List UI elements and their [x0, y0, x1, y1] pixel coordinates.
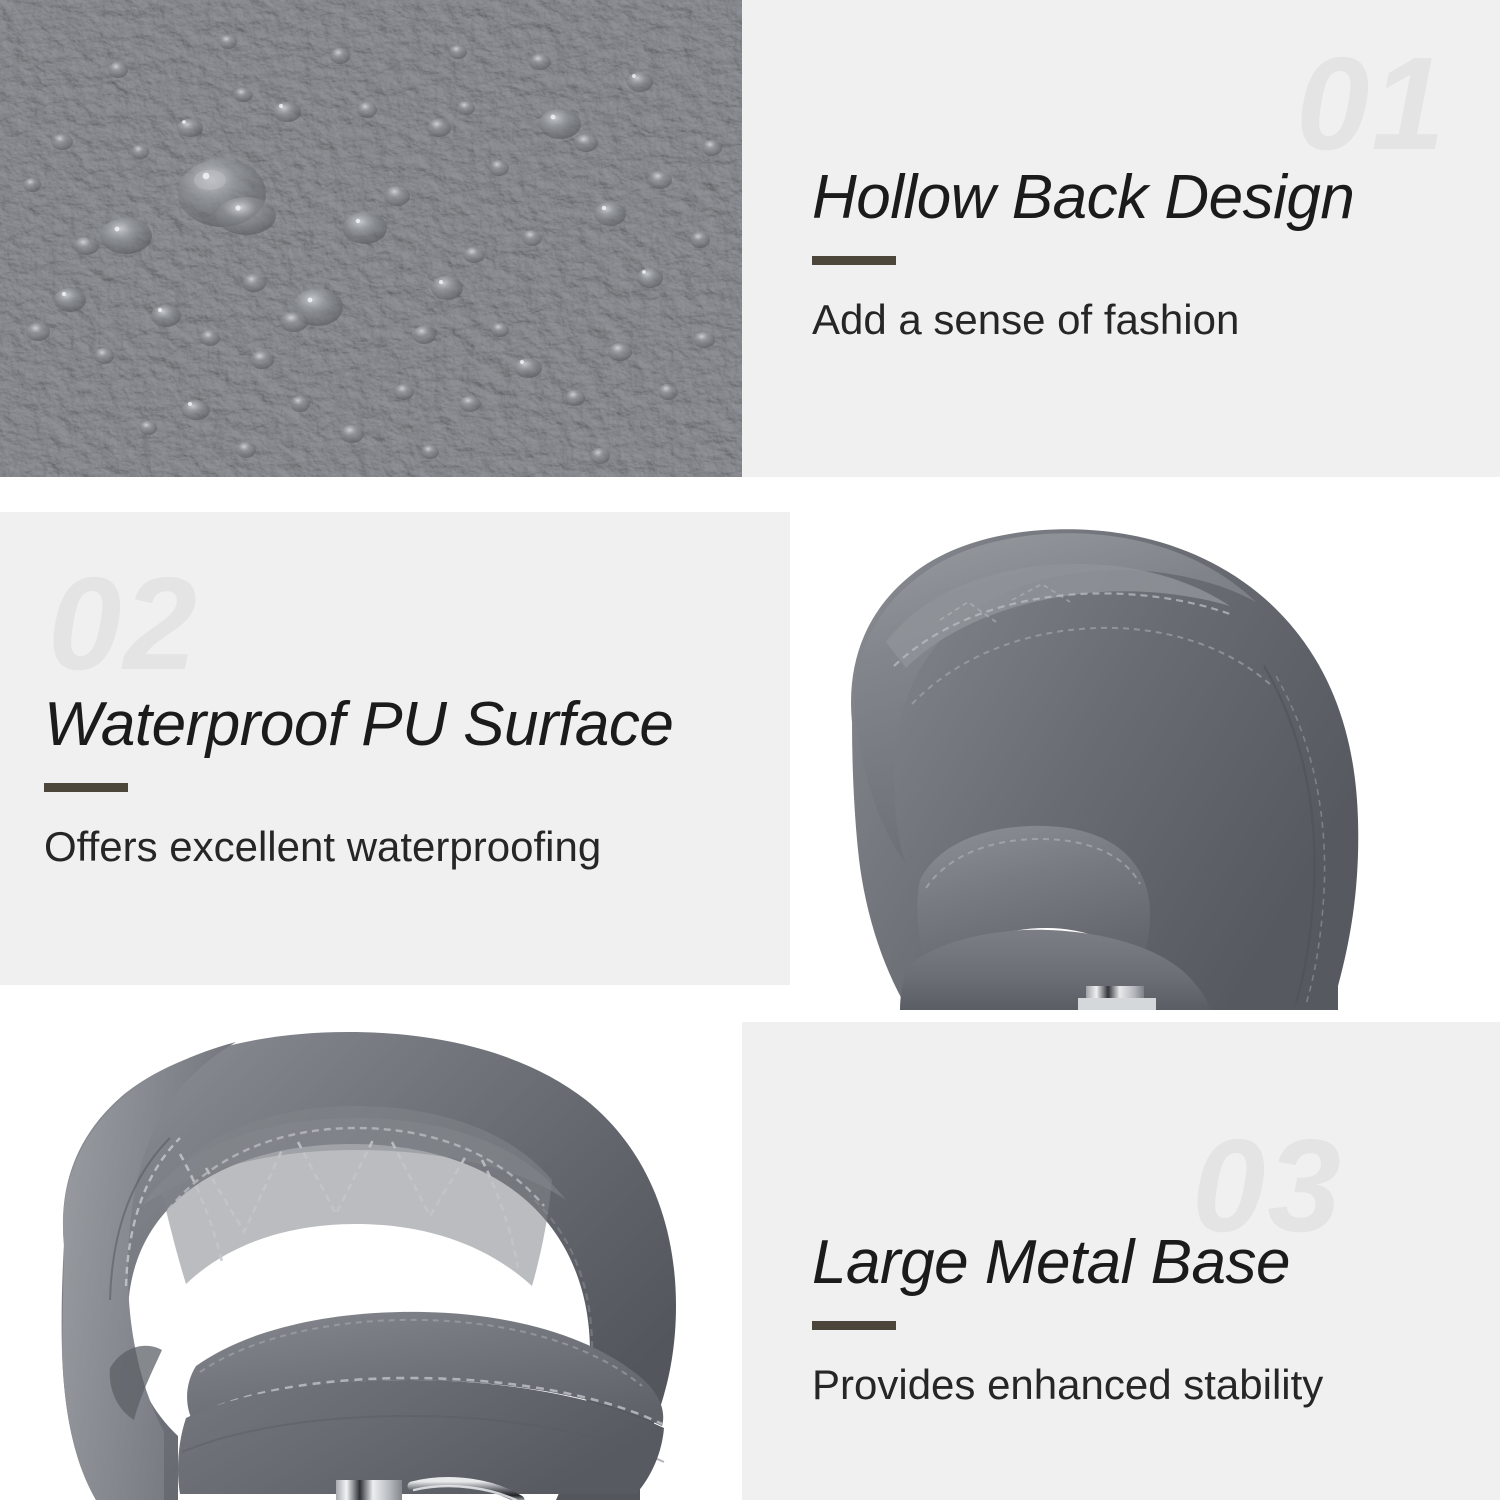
feature-headline-02: Waterproof PU Surface: [44, 692, 764, 757]
feature-subline-02: Offers excellent waterproofing: [44, 822, 764, 872]
feature-subline-01: Add a sense of fashion: [812, 295, 1472, 345]
infographic-canvas: 01 Hollow Back Design Add a sense of fas…: [0, 0, 1500, 1500]
chair-side-profile-photo: [790, 490, 1500, 1010]
accent-dash-01: [812, 256, 896, 265]
feature-headline-01: Hollow Back Design: [812, 165, 1472, 230]
feature-text-03: Large Metal Base Provides enhanced stabi…: [812, 1230, 1472, 1410]
accent-dash-02: [44, 783, 128, 792]
feature-text-02: Waterproof PU Surface Offers excellent w…: [44, 692, 764, 872]
accent-dash-03: [812, 1321, 896, 1330]
feature-text-01: Hollow Back Design Add a sense of fashio…: [812, 165, 1472, 345]
chair-three-quarter-photo: [0, 1000, 742, 1500]
waterproof-leather-texture-photo: [0, 0, 742, 477]
feature-subline-03: Provides enhanced stability: [812, 1360, 1472, 1410]
feature-headline-03: Large Metal Base: [812, 1230, 1472, 1295]
